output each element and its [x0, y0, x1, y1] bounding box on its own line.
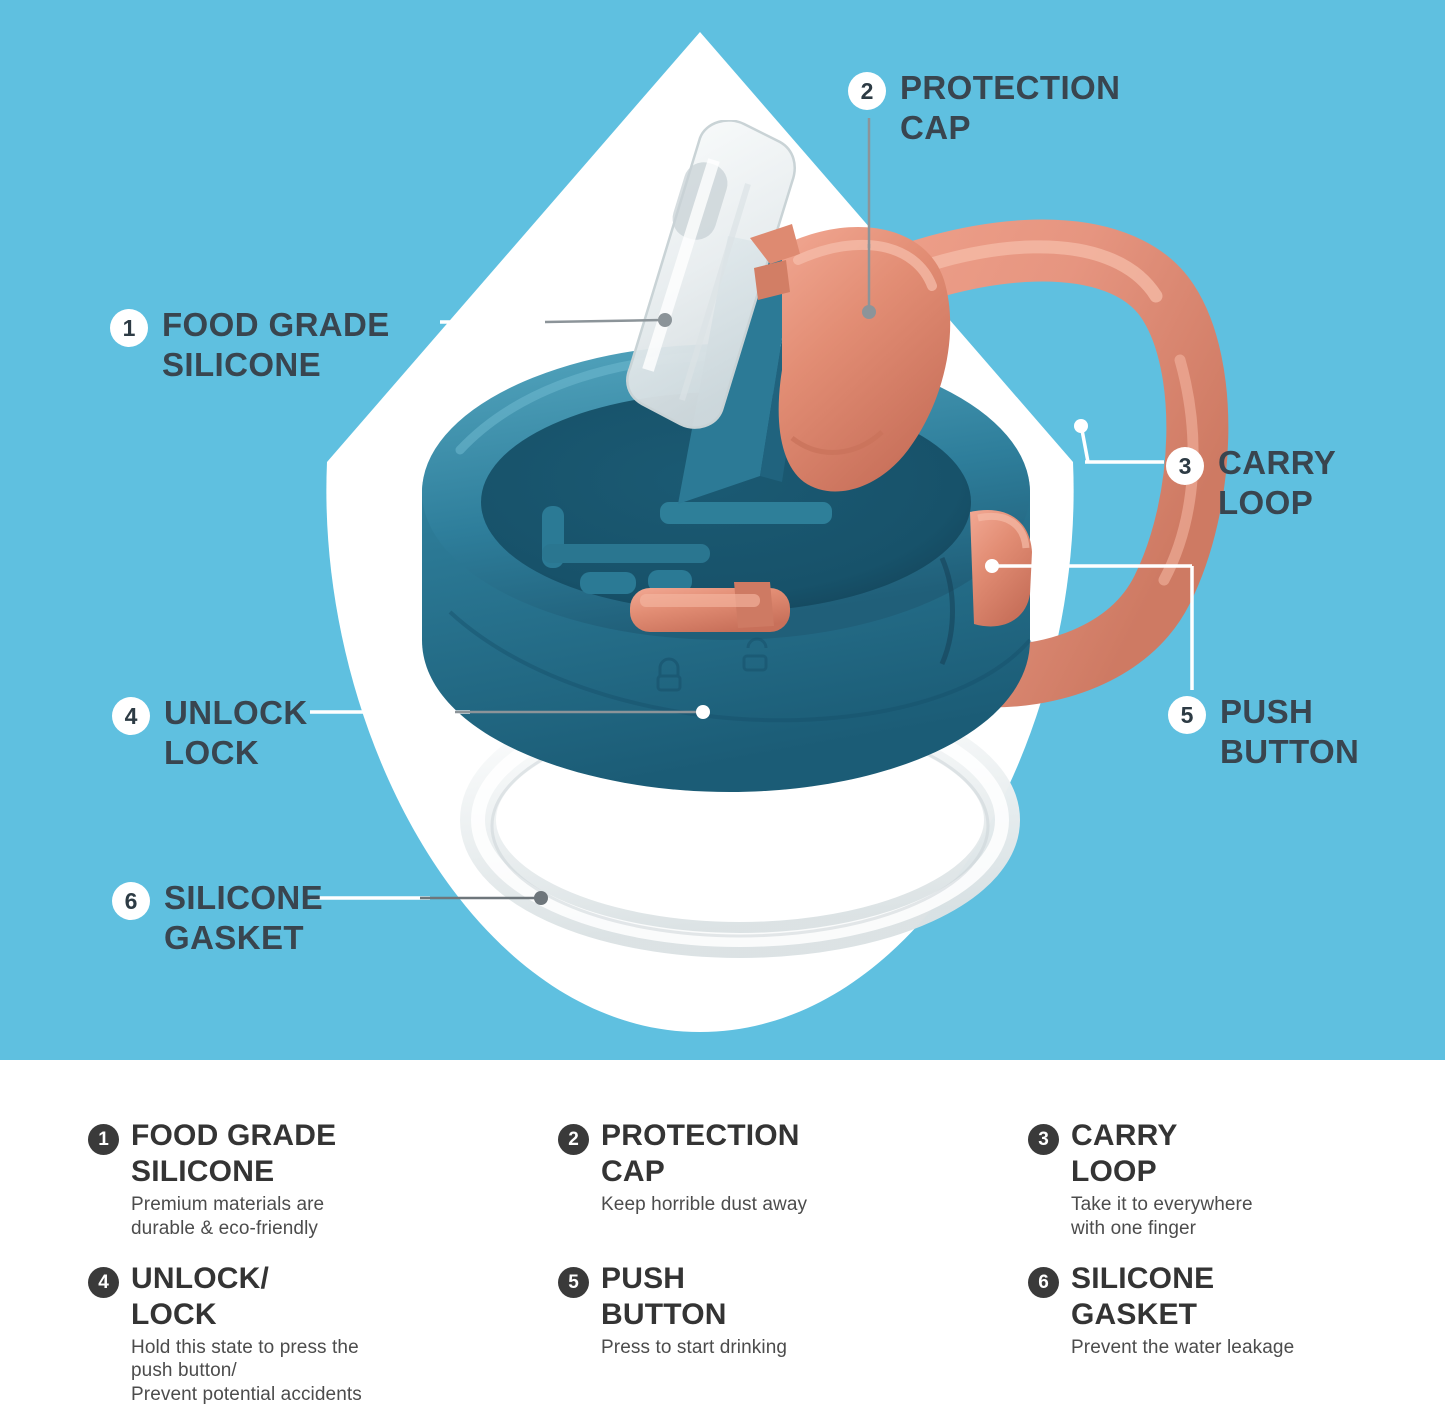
legend-item-4-desc: Hold this state to press the push button…: [131, 1336, 362, 1407]
legend-item-3: 3 CARRY LOOP Take it to everywhere with …: [1028, 1118, 1378, 1241]
callout-2: 2 PROTECTION CAP: [848, 68, 1120, 149]
legend-grid: 1 FOOD GRADE SILICONE Premium materials …: [88, 1118, 1378, 1407]
callout-6: 6 SILICONE GASKET: [112, 878, 323, 959]
callout-4-label: UNLOCK LOCK: [164, 693, 308, 774]
leader-line-1-icon: [440, 313, 672, 327]
legend-item-4-title: UNLOCK/ LOCK: [131, 1261, 362, 1333]
legend-item-2: 2 PROTECTION CAP Keep horrible dust away: [558, 1118, 1028, 1241]
callout-1: 1 FOOD GRADE SILICONE: [110, 305, 390, 386]
callout-1-label: FOOD GRADE SILICONE: [162, 305, 390, 386]
legend-item-1-title: FOOD GRADE SILICONE: [131, 1118, 336, 1190]
product-infographic: 1 FOOD GRADE SILICONE 2 PROTECTION CAP 3…: [0, 0, 1445, 1417]
callout-2-label: PROTECTION CAP: [900, 68, 1120, 149]
legend-item-2-title: PROTECTION CAP: [601, 1118, 807, 1190]
legend-item-6-desc: Prevent the water leakage: [1071, 1336, 1294, 1360]
callout-6-number: 6: [112, 882, 150, 920]
legend-item-4: 4 UNLOCK/ LOCK Hold this state to press …: [88, 1261, 558, 1407]
callout-5-label: PUSH BUTTON: [1220, 692, 1359, 773]
callout-5: 5 PUSH BUTTON: [1168, 692, 1359, 773]
leader-line-5-icon: [985, 559, 1192, 690]
legend-item-1: 1 FOOD GRADE SILICONE Premium materials …: [88, 1118, 558, 1241]
callout-3-label: CARRY LOOP: [1218, 443, 1336, 524]
legend-item-5-desc: Press to start drinking: [601, 1336, 787, 1360]
legend-item-5-title: PUSH BUTTON: [601, 1261, 787, 1333]
callout-4: 4 UNLOCK LOCK: [112, 693, 308, 774]
leader-line-4-icon: [310, 705, 710, 719]
legend-item-3-desc: Take it to everywhere with one finger: [1071, 1193, 1253, 1241]
callout-6-label: SILICONE GASKET: [164, 878, 323, 959]
legend-item-2-desc: Keep horrible dust away: [601, 1193, 807, 1217]
callout-2-number: 2: [848, 72, 886, 110]
legend-panel: 1 FOOD GRADE SILICONE Premium materials …: [0, 1060, 1445, 1417]
legend-item-2-number: 2: [558, 1124, 589, 1155]
legend-item-3-title: CARRY LOOP: [1071, 1118, 1253, 1190]
legend-item-6-title: SILICONE GASKET: [1071, 1261, 1294, 1333]
legend-item-1-number: 1: [88, 1124, 119, 1155]
callout-3-number: 3: [1166, 447, 1204, 485]
callout-1-number: 1: [110, 309, 148, 347]
legend-item-1-desc: Premium materials are durable & eco-frie…: [131, 1193, 336, 1241]
legend-item-6-number: 6: [1028, 1267, 1059, 1298]
callout-5-number: 5: [1168, 696, 1206, 734]
hero-panel: 1 FOOD GRADE SILICONE 2 PROTECTION CAP 3…: [0, 0, 1445, 1060]
legend-item-6: 6 SILICONE GASKET Prevent the water leak…: [1028, 1261, 1378, 1407]
legend-item-3-number: 3: [1028, 1124, 1059, 1155]
legend-item-5-number: 5: [558, 1267, 589, 1298]
leader-line-3-icon: [1074, 419, 1164, 462]
legend-item-4-number: 4: [88, 1267, 119, 1298]
callout-4-number: 4: [112, 697, 150, 735]
callout-3: 3 CARRY LOOP: [1166, 443, 1336, 524]
legend-item-5: 5 PUSH BUTTON Press to start drinking: [558, 1261, 1028, 1407]
leader-line-6-icon: [310, 891, 548, 905]
